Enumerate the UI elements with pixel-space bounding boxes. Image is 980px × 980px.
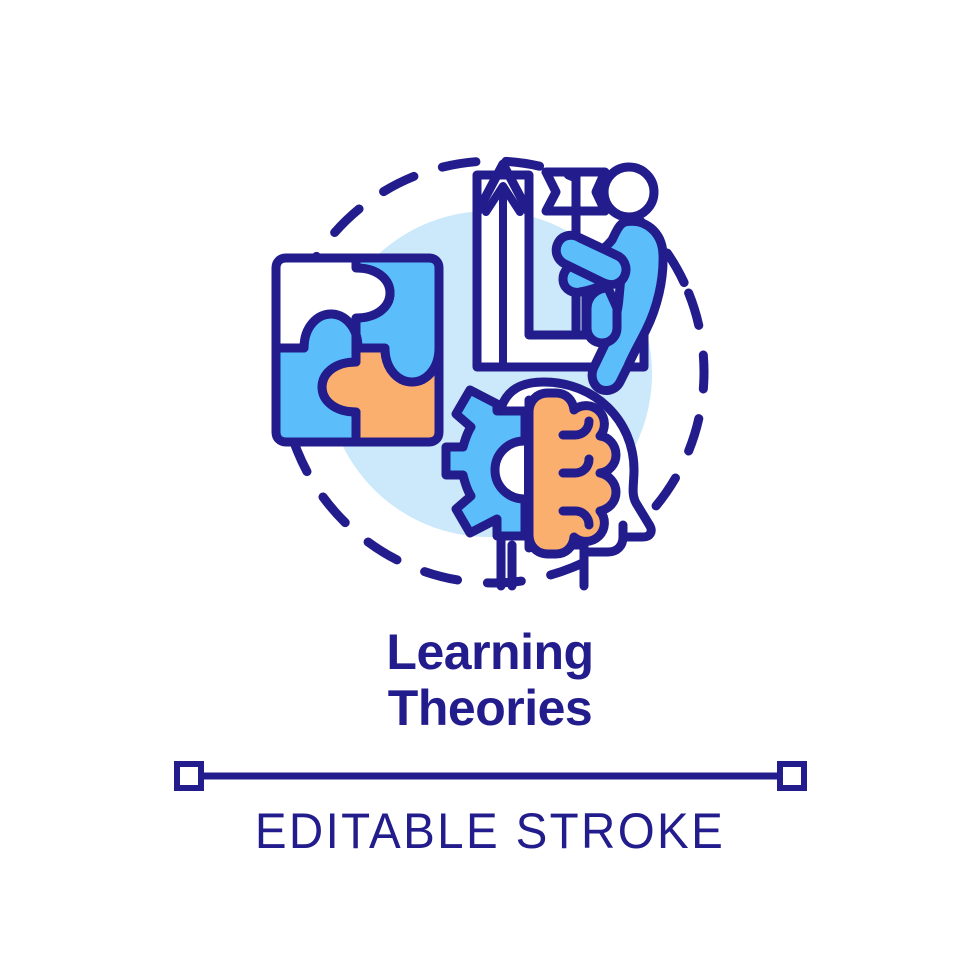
concept-title: Learning Theories [0,624,980,736]
learning-theories-illustration [0,0,980,620]
title-line-2: Theories [0,680,980,736]
stroke-handle-left[interactable] [177,764,201,788]
editable-stroke-block: EDITABLE STROKE [0,752,980,860]
stroke-handle-right[interactable] [780,764,804,788]
title-line-1: Learning [0,624,980,680]
puzzle-pieces [276,258,439,442]
gear-center-hole [495,441,524,499]
person-head [604,167,654,217]
brain-icon [529,393,616,554]
editable-stroke-caption: EDITABLE STROKE [25,802,956,860]
concept-icon-card: Learning Theories EDITABLE STROKE [0,0,980,980]
editable-stroke-bar [160,752,820,798]
